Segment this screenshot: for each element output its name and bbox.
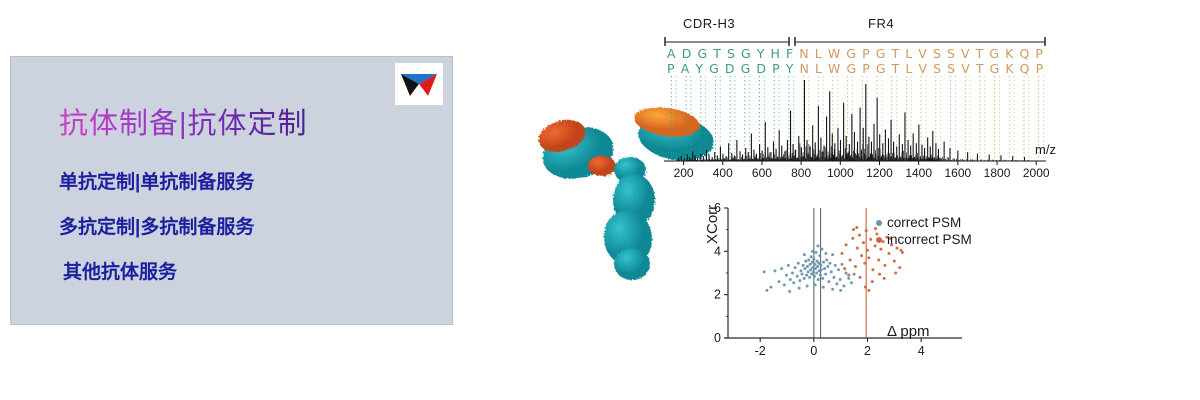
svg-text:4: 4 — [918, 344, 925, 358]
residue: W — [825, 61, 843, 76]
svg-text:800: 800 — [791, 166, 811, 180]
svg-text:1000: 1000 — [827, 166, 854, 180]
residue: S — [930, 61, 944, 76]
residue: G — [694, 46, 710, 61]
residue: V — [915, 61, 930, 76]
svg-text:600: 600 — [752, 166, 772, 180]
antibody-service-panel: 抗体制备|抗体定制 单抗定制|单抗制备服务 多抗定制|多抗制备服务 其他抗体服务 — [10, 56, 453, 325]
residue: P — [664, 61, 678, 76]
residue: T — [888, 46, 902, 61]
residue: G — [843, 61, 859, 76]
residue: W — [825, 46, 843, 61]
legend-incorrect-psm: incorrect PSM — [876, 232, 972, 247]
residue: V — [958, 46, 973, 61]
residue: G — [738, 61, 754, 76]
residue: Y — [692, 61, 706, 76]
svg-text:0: 0 — [810, 344, 817, 358]
residue: T — [889, 61, 903, 76]
residue: G — [738, 46, 754, 61]
svg-text:2000: 2000 — [1023, 166, 1050, 180]
svg-text:2: 2 — [714, 288, 721, 302]
residue: F — [783, 46, 796, 61]
residue: P — [1033, 61, 1047, 76]
svg-text:200: 200 — [674, 166, 694, 180]
residue: S — [944, 61, 958, 76]
residue: G — [843, 46, 859, 61]
nav-link-polyclonal[interactable]: 多抗定制|多抗制备服务 — [59, 212, 254, 239]
residue: L — [812, 46, 825, 61]
legend-label-correct: correct PSM — [887, 215, 961, 230]
domain-ruler — [664, 34, 1046, 46]
antibody-sequencing-figure: CDR-H3 FR4 ADGTSGYHFNLWGPGTLVSSVTGKQP PA… — [520, 0, 1200, 400]
legend-dot-correct — [876, 220, 882, 226]
residue: Y — [783, 61, 797, 76]
residue: G — [987, 61, 1003, 76]
legend-dot-incorrect — [876, 237, 882, 243]
svg-text:1600: 1600 — [944, 166, 971, 180]
residue: G — [873, 46, 889, 61]
residue: P — [769, 61, 783, 76]
residue: N — [796, 61, 811, 76]
residue: T — [973, 46, 987, 61]
mz-axis: 200400600800100012001400160018002000 — [660, 160, 1050, 186]
residue: V — [915, 46, 930, 61]
domain-label-fr4: FR4 — [868, 16, 894, 31]
svg-text:1400: 1400 — [905, 166, 932, 180]
logo-svg — [395, 63, 443, 105]
residue: G — [873, 61, 889, 76]
residue: P — [859, 46, 873, 61]
nav-link-other-services[interactable]: 其他抗体服务 — [63, 257, 177, 284]
scatter-xlabel: Δ ppm — [887, 323, 930, 340]
mass-spectrum-trace — [664, 76, 1046, 161]
residue: K — [1002, 61, 1016, 76]
svg-text:1800: 1800 — [984, 166, 1011, 180]
residue: G — [706, 61, 722, 76]
residue: T — [710, 46, 724, 61]
residue: Y — [754, 46, 768, 61]
residue: N — [796, 46, 811, 61]
svg-text:1200: 1200 — [866, 166, 893, 180]
mz-axis-label: m/z — [1035, 142, 1056, 157]
residue: S — [724, 46, 738, 61]
residue: A — [664, 46, 679, 61]
residue: P — [859, 61, 873, 76]
sequence-row-2: PAYGDGDPYNLWGPGTLVSSVTGKQP — [664, 61, 1046, 76]
nav-link-monoclonal[interactable]: 单抗定制|单抗制备服务 — [59, 167, 254, 194]
svg-text:4: 4 — [714, 244, 721, 258]
sequence-row-1: ADGTSGYHFNLWGPGTLVSSVTGKQP — [664, 46, 1046, 61]
residue: D — [679, 46, 695, 61]
company-arrow-logo — [395, 63, 443, 105]
residue: L — [902, 46, 915, 61]
residue: A — [678, 61, 693, 76]
svg-text:-2: -2 — [755, 344, 766, 358]
legend-label-incorrect: incorrect PSM — [887, 232, 972, 247]
legend-correct-psm: correct PSM — [876, 215, 961, 230]
residue: H — [767, 46, 783, 61]
residue: P — [1032, 46, 1046, 61]
residue: G — [986, 46, 1002, 61]
svg-text:400: 400 — [713, 166, 733, 180]
residue: D — [753, 61, 769, 76]
residue: D — [722, 61, 738, 76]
psm-scatter-plot: 0246-2024 XCorr Δ ppm correct PSM incorr… — [680, 192, 980, 382]
residue: L — [812, 61, 825, 76]
domain-label-cdr-h3: CDR-H3 — [683, 16, 735, 31]
residue: K — [1002, 46, 1016, 61]
residue: S — [930, 46, 944, 61]
svg-text:0: 0 — [714, 331, 721, 345]
svg-text:2: 2 — [864, 344, 871, 358]
page-title: 抗体制备|抗体定制 — [59, 100, 308, 142]
residue: L — [902, 61, 915, 76]
sequence-spectrum-block: CDR-H3 FR4 ADGTSGYHFNLWGPGTLVSSVTGKQP PA… — [650, 16, 1060, 191]
residue: Q — [1016, 46, 1032, 61]
residue: Q — [1017, 61, 1033, 76]
residue: V — [958, 61, 973, 76]
residue: S — [944, 46, 958, 61]
scatter-ylabel: XCorr — [704, 205, 721, 244]
residue: T — [973, 61, 987, 76]
